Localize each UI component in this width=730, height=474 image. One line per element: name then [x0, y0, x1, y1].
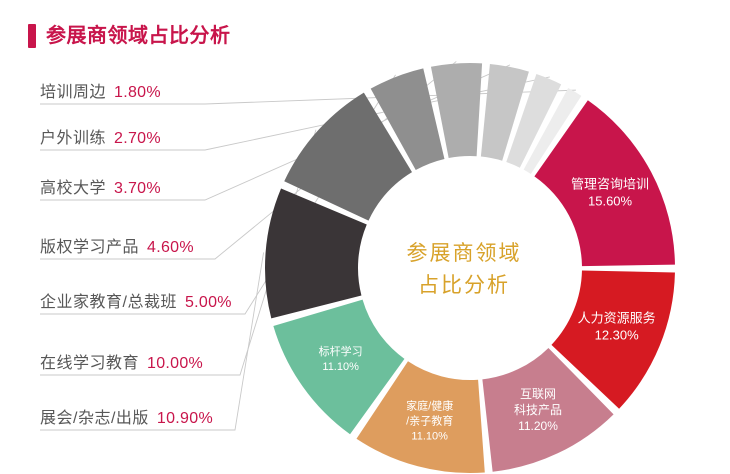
legend-item[interactable]: 在线学习教育10.00%: [40, 349, 203, 373]
legend-item-label: 展会/杂志/出版: [40, 404, 149, 428]
legend-item[interactable]: 户外训练2.70%: [40, 124, 161, 148]
legend-item-label: 培训周边: [40, 78, 106, 102]
legend-item-value: 1.80%: [114, 84, 161, 102]
slice-label: 家庭/健康/亲子教育11.10%: [406, 398, 453, 442]
center-title-line-2: 占比分析: [418, 274, 510, 297]
legend-item-value: 4.60%: [147, 239, 194, 257]
legend-item-value: 5.00%: [185, 294, 232, 312]
chart-container: 参展商领域占比分析 管理咨询培训15.60%人力资源服务12.30%互联网科技产…: [0, 0, 730, 474]
legend-item-value: 3.70%: [114, 180, 161, 198]
legend-item-value: 10.90%: [157, 410, 213, 428]
legend-item-label: 企业家教育/总裁班: [40, 288, 177, 312]
center-title-line-1: 参展商领域: [407, 242, 522, 265]
legend-item-label: 户外训练: [40, 124, 106, 148]
legend-item[interactable]: 企业家教育/总裁班5.00%: [40, 288, 232, 312]
slice-label: 互联网科技产品11.20%: [514, 387, 562, 433]
legend-item-label: 高校大学: [40, 174, 106, 198]
legend-item[interactable]: 高校大学3.70%: [40, 174, 161, 198]
legend-item[interactable]: 展会/杂志/出版10.90%: [40, 404, 213, 428]
legend-item-label: 在线学习教育: [40, 349, 139, 373]
legend-item-value: 10.00%: [147, 355, 203, 373]
legend-item-label: 版权学习产品: [40, 233, 139, 257]
legend-item-value: 2.70%: [114, 130, 161, 148]
legend-list: 培训周边1.80%户外训练2.70%高校大学3.70%版权学习产品4.60%企业…: [0, 0, 300, 474]
legend-item[interactable]: 培训周边1.80%: [40, 78, 161, 102]
legend-item[interactable]: 版权学习产品4.60%: [40, 233, 194, 257]
